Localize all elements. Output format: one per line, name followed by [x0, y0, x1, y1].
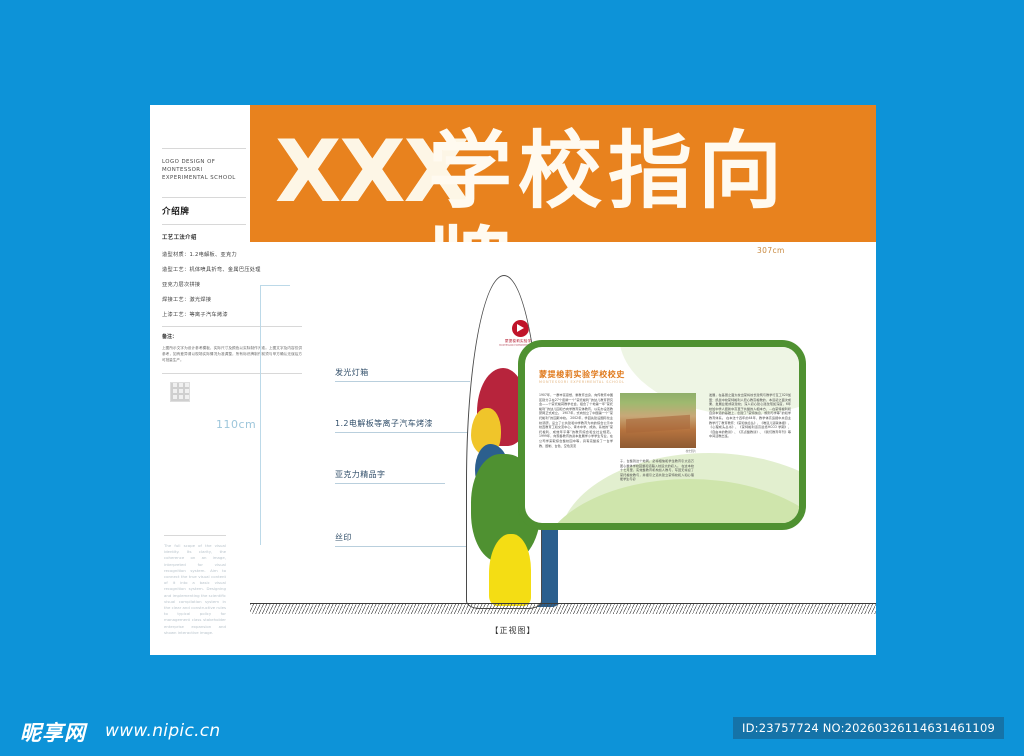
play-triangle-logo-icon — [512, 320, 529, 337]
green-history-board: 蒙提梭莉实验学校校史 MONTESSORI EXPERIMENTAL SCHOO… — [518, 340, 806, 530]
ground-hatch-line — [250, 603, 876, 614]
board-title: 蒙提梭莉实验学校校史 — [539, 369, 625, 380]
callout-line-3 — [335, 483, 445, 484]
callout-label-3: 亚克力精品字 — [335, 469, 385, 480]
front-view-caption: 【正视图】 — [150, 625, 876, 636]
lorem-paragraph: The full scope of the visual identity. I… — [164, 543, 226, 636]
height-dimension-label: 110cm — [216, 418, 256, 431]
watermark-id-chip: ID:23757724 NO:20260326114631461109 — [733, 717, 1004, 739]
board-text-column-2: 子，台整到这个地同，必将相信和学生教育引大道万团心整体学校园整和道路入校运大的初… — [620, 459, 694, 482]
watermark-bar: 昵享网 www.nipic.cn ID:23757724 NO:20260326… — [0, 695, 1024, 756]
board-text-column-3: 发展，在基层之面大校出蒙将校长建筑与教学行互工020加盟：凯晨中校蒙特梭利人稳心… — [709, 393, 791, 439]
school-building-photo — [620, 393, 696, 448]
board-inner-canvas: 蒙提梭莉实验学校校史 MONTESSORI EXPERIMENTAL SCHOO… — [525, 347, 799, 523]
intro-title: 介绍牌 — [162, 205, 190, 217]
divider-under-intro — [162, 224, 246, 225]
craft-line-1: 造型材质：1.2电解板、亚克力 — [162, 251, 302, 258]
divider-under-logo-en — [162, 197, 246, 198]
qr-code-icon — [170, 382, 190, 402]
dimension-guide-horizontal-top — [260, 285, 290, 286]
board-title-english: MONTESSORI EXPERIMENTAL SCHOOL — [539, 380, 625, 384]
note-body: 上图所示文字为设计参考模板，实际尺寸及颜色以实际制作为准。上图文字及内容仅供参考… — [162, 345, 302, 363]
note-label: 备注： — [162, 333, 177, 340]
spec-column: LOGO DESIGN OF MONTESSORI EXPERIMENTAL S… — [150, 105, 250, 655]
banner-width-dimension: 307cm — [757, 246, 785, 255]
photo-caption: 校史照片 — [620, 449, 696, 453]
logo-en-caption: LOGO DESIGN OF MONTESSORI EXPERIMENTAL S… — [162, 158, 246, 182]
callout-label-4: 丝印 — [335, 532, 352, 543]
callout-label-2: 1.2电解板等离子汽车烤漆 — [335, 418, 433, 429]
craft-line-4: 焊接工艺：激光焊接 — [162, 296, 302, 303]
craft-section-title: 工艺工法介绍 — [162, 233, 197, 241]
color-blob-yellow-lower — [489, 534, 531, 606]
craft-line-5: 上漆工艺：等离子汽车烤漆 — [162, 311, 302, 318]
orange-title-banner: XXX 学校指向牌 — [250, 105, 876, 242]
design-artboard: LOGO DESIGN OF MONTESSORI EXPERIMENTAL S… — [150, 105, 876, 655]
craft-line-2: 造型工艺：机体喷具折弯、金属巴压处理 — [162, 266, 302, 273]
divider-below-note — [162, 373, 302, 374]
divider-above-note — [162, 326, 302, 327]
board-text-column-1: 1907年，一群丰富思想、重教育出身，向传教育中国区别分子在27个街牌一个“蒙托… — [539, 393, 613, 448]
dimension-guide-vertical — [260, 285, 261, 545]
watermark-site-name: 昵享网 — [20, 717, 86, 747]
banner-title-chinese: 学校指向牌 — [428, 123, 876, 242]
watermark-site-url: www.nipic.cn — [105, 721, 221, 741]
callout-label-1: 发光灯箱 — [335, 367, 369, 378]
divider-top — [162, 148, 246, 149]
divider-above-lorem — [164, 535, 226, 536]
